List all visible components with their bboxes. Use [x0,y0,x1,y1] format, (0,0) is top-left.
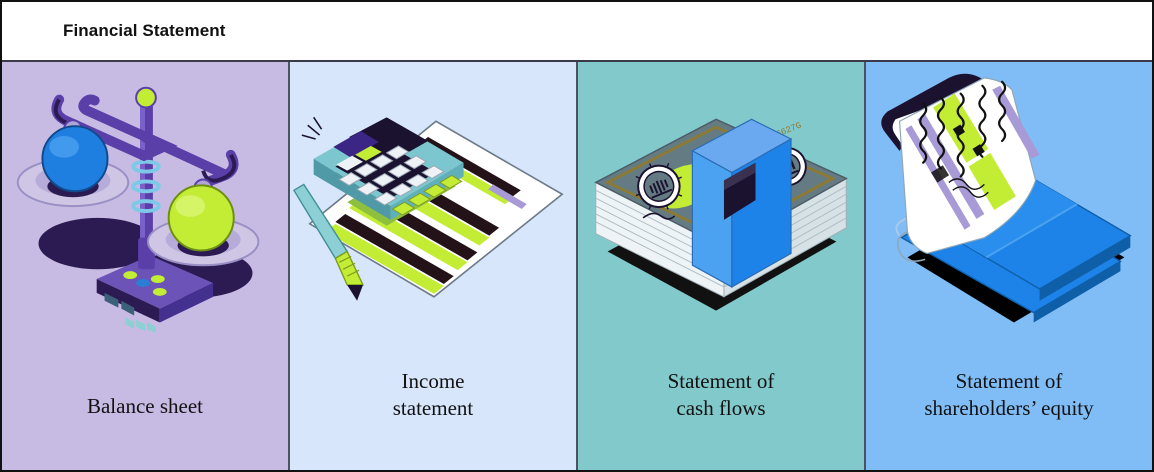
panel-statement-of-shareholders-equity[interactable]: Statement of shareholders’ equity [866,62,1152,472]
folder-document-icon [866,62,1152,362]
figure-header: Financial Statement [2,2,1152,62]
panel-label-balance-sheet: Balance sheet [2,362,288,462]
panel-income-statement[interactable]: Income statement [290,62,578,472]
panel-balance-sheet[interactable]: Balance sheet [2,62,290,472]
panel-label-income-statement: Income statement [290,362,576,462]
panel-statement-of-cash-flows[interactable]: D5476627G Statement of cash flows [578,62,866,472]
panel-strip: Balance sheet [2,62,1152,472]
calculator-document-icon [290,62,576,362]
financial-statement-figure: Financial Statement [0,0,1154,472]
balance-scale-icon [2,62,288,362]
panel-label-statement-of-shareholders-equity: Statement of shareholders’ equity [866,362,1152,462]
panel-label-statement-of-cash-flows: Statement of cash flows [578,362,864,462]
page-title: Financial Statement [63,21,226,41]
cash-stack-icon: D5476627G [578,62,864,362]
